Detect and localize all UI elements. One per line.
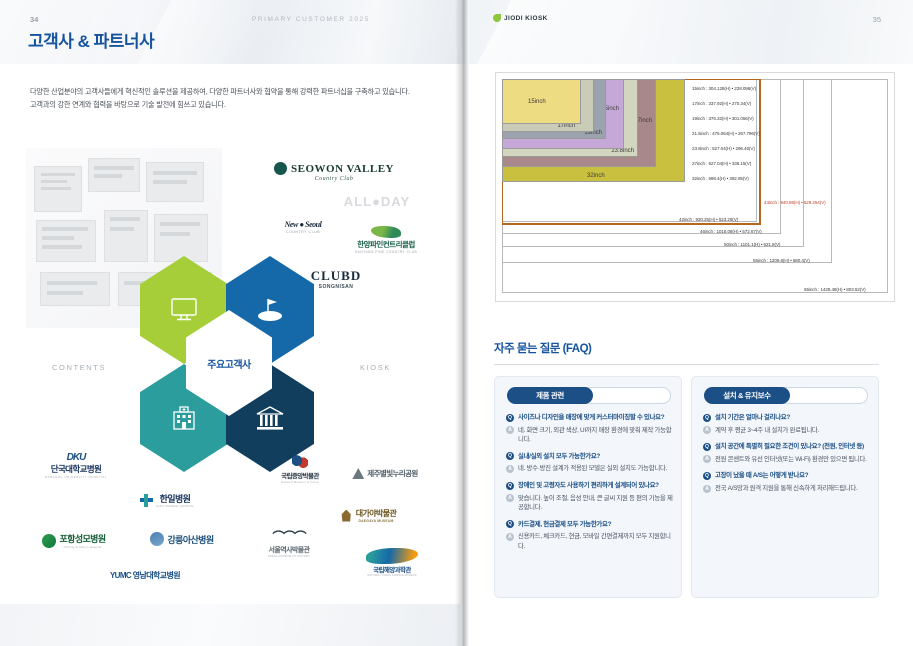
faq-answer: A 네. 방수·방진 설계가 적용된 모델은 실외 설치도 가능합니다. [506, 464, 674, 474]
logo-pohang-en: Pohang St.Mary's Hospital [59, 545, 105, 549]
maritime-wave-icon [366, 548, 418, 564]
brand-logo-text: JIODI KIOSK [504, 15, 548, 22]
faq-question[interactable]: Q 설치 기간은 얼마나 걸리나요? [703, 413, 871, 423]
logo-gangneung-asan: 강릉아산병원 [128, 532, 236, 546]
screen-size-diagram: 32inch 27inch 23.8inch 21.5inch 19inch 1… [495, 72, 895, 302]
jeju-star-icon [352, 468, 364, 479]
q-mark-icon: Q [506, 482, 514, 490]
q-mark-icon: Q [506, 520, 514, 528]
logo-daegaya-museum: 대가야박물관 DAEGAYA MUSEUM [318, 508, 418, 523]
logo-allday: ALL●DAY [332, 194, 422, 209]
left-footer [0, 604, 460, 646]
a-mark-icon: A [703, 455, 711, 463]
faq-divider [494, 364, 879, 365]
faq-question[interactable]: Q 설치 공간에 특별히 필요한 조건이 있나요? (전원, 인터넷 등) [703, 442, 871, 452]
faq-question-text: 사이즈나 디자인을 매장에 맞게 커스터마이징할 수 있나요? [518, 413, 664, 423]
faq-list-product: Q 사이즈나 디자인을 매장에 맞게 커스터마이징할 수 있나요? A 네. 화… [506, 413, 674, 555]
pohang-leaf-icon [42, 534, 56, 548]
measure-21_5inch: 21.5inch : 476.064(H) • 267.796(V) [692, 131, 760, 136]
page-title: 고객사 & 파트너사 [28, 27, 154, 52]
q-mark-icon: Q [506, 452, 514, 460]
faq-section-title: 자주 묻는 질문 (FAQ) [494, 340, 591, 356]
logo-jeju-byeolbit: 제주별빛누리공원 [338, 468, 432, 479]
a-mark-icon: A [506, 426, 514, 434]
side-label-kiosk: KIOSK [360, 363, 391, 372]
logo-yeungnam-univ-hospital: YUMC 영남대학교병원 [80, 570, 210, 581]
a-mark-icon: A [703, 485, 711, 493]
faq-question-text: 카드결제, 현금결제 모두 가능한가요? [518, 520, 611, 530]
logo-maritime-name: 국립해양과학관 [344, 564, 440, 574]
logo-pohang-name: 포항성모병원 [59, 532, 105, 545]
logo-dankook-name: 단국대학교병원 [28, 463, 124, 475]
faq-answer-text: 전국 A/S망과 원격 지원을 통해 신속하게 처리해드립니다. [715, 484, 857, 494]
logo-national-maritime-museum: 국립해양과학관 NATIONAL OCEAN SCIENCE MUSEUM [344, 548, 440, 577]
faq-answer: A 네. 화면 크기, 외관 색상, UI까지 매장 환경에 맞춰 제작 가능합… [506, 426, 674, 445]
faq-answer: A 계약 후 평균 3~4주 내 설치가 완료됩니다. [703, 426, 871, 436]
logo-dankook-univ-hospital: DKU 단국대학교병원 DANKOOK UNIVERSITY HOSPITAL [28, 452, 124, 479]
faq-answer-text: 네. 방수·방진 설계가 적용된 모델은 실외 설치도 가능합니다. [518, 464, 667, 474]
hospital-icon [169, 404, 199, 432]
faq-tag-product[interactable]: 제품 관련 [507, 387, 671, 404]
guide-line-vertical [759, 79, 761, 225]
a-mark-icon: A [506, 494, 514, 502]
left-page: 고객사 & 파트너사 다양한 산업분야의 고객사들에게 혁신적인 솔루션을 제공… [0, 0, 460, 646]
faq-tag-install[interactable]: 설치 & 유지보수 [704, 387, 868, 404]
q-mark-icon: Q [703, 472, 711, 480]
logo-smh-en: SEOUL MUSEUM OF HISTORY [244, 555, 334, 558]
faq-answer-text: 신용카드, 체크카드, 현금, 모바일 간편결제까지 모두 지원합니다. [518, 532, 674, 551]
faq-question-text: 설치 공간에 특별히 필요한 조건이 있나요? (전원, 인터넷 등) [715, 442, 864, 452]
leaf-icon [493, 14, 501, 22]
hanil-cross-icon [140, 494, 153, 507]
right-page-number: 35 [873, 15, 881, 24]
daegaya-crown-icon [340, 510, 353, 522]
brochure-spread: 고객사 & 파트너사 다양한 산업분야의 고객사들에게 혁신적인 솔루션을 제공… [0, 0, 913, 646]
faq-question-text: 장애인 및 고령자도 사용하기 편리하게 설계되어 있나요? [518, 481, 659, 491]
faq-answer-text: 네. 화면 크기, 외관 색상, UI까지 매장 환경에 맞춰 제작 가능합니다… [518, 426, 674, 445]
logo-seoul-museum-history: ⌒⌒⌒ 서울역사박물관 SEOUL MUSEUM OF HISTORY [244, 528, 334, 558]
right-footer [460, 604, 913, 646]
faq-question[interactable]: Q 장애인 및 고령자도 사용하기 편리하게 설계되어 있나요? [506, 481, 674, 491]
logo-maritime-en: NATIONAL OCEAN SCIENCE MUSEUM [344, 574, 440, 577]
hanyang-pine-mark-icon [371, 226, 401, 238]
measure-17inch: 17inch : 337.92(H) • 270.34(V) [692, 101, 751, 106]
golf-icon [255, 296, 285, 324]
brand-logo: JIODI KIOSK [493, 14, 548, 22]
logo-nmk-name: 국립중앙박물관 [258, 470, 342, 480]
faq-question-text: 실내/실외 설치 모두 가능한가요? [518, 452, 600, 462]
logo-new-seoul-sub: COUNTRY CLUB [260, 230, 346, 234]
monitor-icon [169, 297, 199, 323]
logo-hanil-hospital: 한일병원 HANIL GENERAL HOSPITAL [112, 492, 222, 508]
faq-tag-product-label: 제품 관련 [507, 387, 593, 404]
logo-daegaya-name: 대가야박물관 [356, 508, 397, 519]
logo-hanil-en: HANIL GENERAL HOSPITAL [156, 505, 194, 508]
measure-50inch: 50inch : 1101.1(H) • 621.8(V) [724, 242, 780, 247]
faq-tag-install-label: 설치 & 유지보수 [704, 387, 790, 404]
intro-paragraph: 다양한 산업분야의 고객사들에게 혁신적인 솔루션을 제공하여, 다양한 파트너… [30, 86, 430, 111]
left-page-number: 34 [30, 15, 38, 24]
logo-gangneung-name: 강릉아산병원 [167, 533, 213, 546]
measure-27inch: 27inch : 527.04(H) • 336.15(V) [692, 161, 751, 166]
right-header-band [460, 0, 913, 64]
q-mark-icon: Q [703, 414, 711, 422]
logo-new-seoul-name: New ● Seoul [260, 220, 346, 229]
measure-65inch: 65inch : 1428.48(H) • 803.52(V) [804, 287, 866, 292]
seowon-seal-icon [274, 162, 287, 175]
logo-national-museum-korea: 국립중앙박물관 National Museum of Korea [258, 455, 342, 484]
faq-answer: A 전국 A/S망과 원격 지원을 통해 신속하게 처리해드립니다. [703, 484, 871, 494]
nmk-mark-icon [292, 455, 308, 469]
faq-column-product: 제품 관련 Q 사이즈나 디자인을 매장에 맞게 커스터마이징할 수 있나요? … [494, 376, 682, 598]
faq-column-install: 설치 & 유지보수 Q 설치 기간은 얼마나 걸리나요? A 계약 후 평균 3… [691, 376, 879, 598]
logo-hanil-name: 한일병원 [156, 492, 194, 505]
box-15inch: 15inch [502, 79, 581, 124]
measure-19inch: 19inch : 376.32(H) • 301.056(V) [692, 116, 754, 121]
side-label-contents: CONTENTS [52, 363, 106, 372]
measure-55inch: 55inch : 1209.6(H) • 680.4(V) [753, 258, 810, 263]
logo-daegaya-en: DAEGAYA MUSEUM [356, 519, 397, 523]
guide-line-horizontal [502, 223, 761, 225]
logo-seowon-valley-name: SEOWON VALLEY [291, 163, 394, 175]
a-mark-icon: A [506, 533, 514, 541]
intro-line-1: 다양한 산업분야의 고객사들에게 혁신적인 솔루션을 제공하여, 다양한 파트너… [30, 86, 430, 99]
logo-seowon-valley-sub: Country Club [244, 176, 424, 182]
logo-seowon-valley: SEOWON VALLEY Country Club [244, 162, 424, 182]
faq-answer-text: 맞습니다. 높이 조절, 음성 안내, 큰 글씨 지원 등 편의 기능을 제공합… [518, 494, 674, 513]
faq-question[interactable]: Q 카드결제, 현금결제 모두 가능한가요? [506, 520, 674, 530]
measure-43inch: 43inch : 940.86(H) • 529.254(V) [764, 200, 826, 205]
logo-yeungnam-name: YUMC 영남대학교병원 [80, 570, 210, 581]
logo-pohang-st-marys: 포항성모병원 Pohang St.Mary's Hospital [18, 532, 130, 549]
logo-allday-name: ALL●DAY [332, 194, 422, 209]
measure-23_8inch: 23.8inch : 527.04(H) • 296.46(V) [692, 146, 755, 151]
measure-46inch: 46inch : 1018.08(H) • 572.67(V) [700, 229, 762, 234]
a-mark-icon: A [506, 465, 514, 473]
measure-15inch: 15inch : 304.128(H) • 228.096(V) [692, 86, 756, 91]
right-page: 32inch 27inch 23.8inch 21.5inch 19inch 1… [460, 0, 913, 646]
smh-arc-icon: ⌒⌒⌒ [244, 528, 334, 545]
faq-question-text: 설치 기간은 얼마나 걸리나요? [715, 413, 790, 423]
museum-icon [254, 404, 286, 432]
left-footer-tag: PRIMARY CUSTOMER 2025 [252, 16, 370, 23]
faq-question[interactable]: Q 실내/실외 설치 모두 가능한가요? [506, 452, 674, 462]
measure-42inch: 42inch : 930.25(H) • 523.26(V) [679, 217, 738, 222]
faq-question[interactable]: Q 사이즈나 디자인을 매장에 맞게 커스터마이징할 수 있나요? [506, 413, 674, 423]
faq-question-text: 고장이 났을 때 A/S는 어떻게 받나요? [715, 471, 808, 481]
logo-nmk-en: National Museum of Korea [258, 480, 342, 484]
logo-dankook-en: DANKOOK UNIVERSITY HOSPITAL [28, 475, 124, 479]
key-customers-hex-diagram: 주요고객사 [140, 250, 320, 480]
dku-mark-icon: DKU [28, 452, 124, 463]
asan-mountain-icon [150, 532, 164, 546]
faq-question[interactable]: Q 고장이 났을 때 A/S는 어떻게 받나요? [703, 471, 871, 481]
logo-new-seoul: New ● Seoul COUNTRY CLUB [260, 220, 346, 234]
logo-hanyang-pine-name: 한양파인컨트리클럽 [340, 239, 432, 250]
a-mark-icon: A [703, 426, 711, 434]
logo-smh-name: 서울역사박물관 [244, 545, 334, 555]
faq-answer: A 전원 콘센트와 유선 인터넷(또는 Wi-Fi) 환경만 있으면 됩니다. [703, 455, 871, 465]
box-label-32inch: 32inch [587, 173, 605, 179]
q-mark-icon: Q [703, 443, 711, 451]
intro-line-2: 고객과의 강한 연계와 협력을 바탕으로 기술 발전에 힘쓰고 있습니다. [30, 99, 430, 112]
logo-jeju-name: 제주별빛누리공원 [367, 468, 417, 479]
faq-list-install: Q 설치 기간은 얼마나 걸리나요? A 계약 후 평균 3~4주 내 설치가 … [703, 413, 871, 497]
logo-hanyang-pine-sub: HANYANG PINE COUNTRY CLUB [340, 250, 432, 254]
measure-32inch: 32inch : 698.4(H) • 392.85(V) [692, 176, 749, 181]
faq-answer-text: 계약 후 평균 3~4주 내 설치가 완료됩니다. [715, 426, 819, 436]
faq-answer: A 신용카드, 체크카드, 현금, 모바일 간편결제까지 모두 지원합니다. [506, 532, 674, 551]
box-label-15inch: 15inch [528, 99, 546, 105]
faq-answer: A 맞습니다. 높이 조절, 음성 안내, 큰 글씨 지원 등 편의 기능을 제… [506, 494, 674, 513]
logo-hanyang-pine: 한양파인컨트리클럽 HANYANG PINE COUNTRY CLUB [340, 226, 432, 254]
q-mark-icon: Q [506, 414, 514, 422]
faq-answer-text: 전원 콘센트와 유선 인터넷(또는 Wi-Fi) 환경만 있으면 됩니다. [715, 455, 867, 465]
